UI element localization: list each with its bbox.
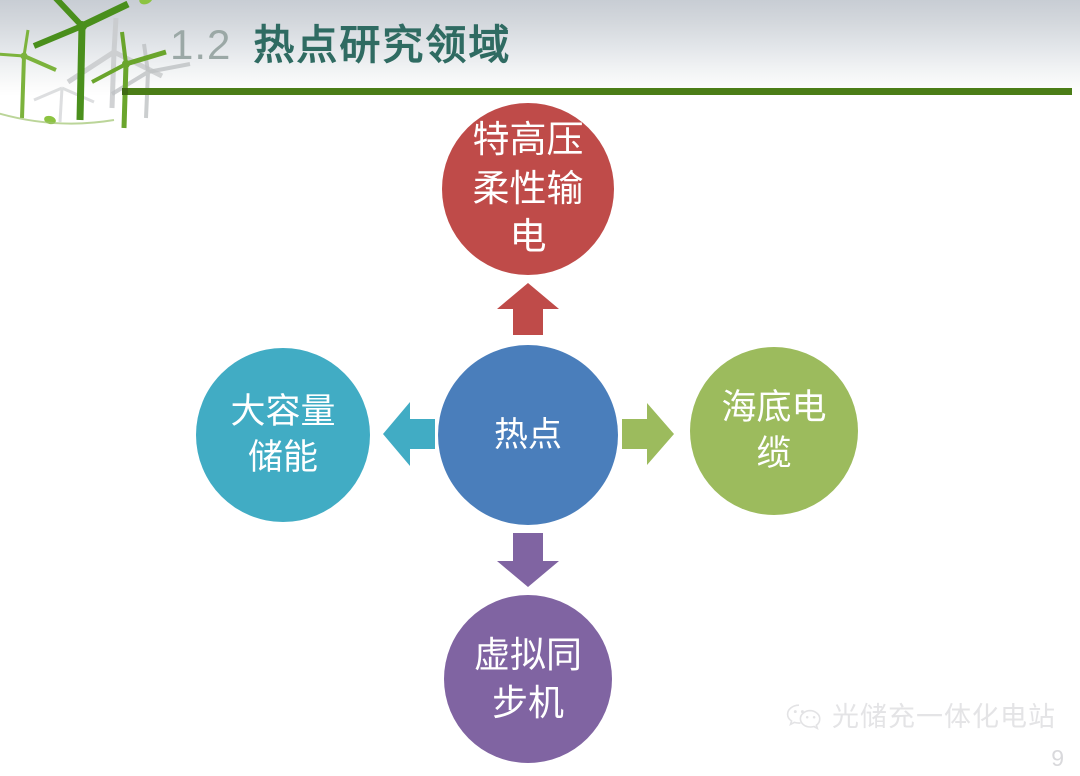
node-label: 虚拟同 步机 xyxy=(468,631,588,726)
slide-canvas: 1.2 热点研究领域 特高压 柔性输 电 大容量 储能 热点 海底电 缆 xyxy=(0,0,1080,776)
arrow-up-icon xyxy=(497,283,559,335)
arrow-down-icon xyxy=(497,533,559,587)
page-number: 9 xyxy=(1051,747,1064,770)
node-uhv-flexible-transmission[interactable]: 特高压 柔性输 电 xyxy=(442,103,614,275)
hotspot-diagram: 特高压 柔性输 电 大容量 储能 热点 海底电 缆 虚拟同 步机 xyxy=(0,96,1080,756)
watermark-text: 光储充一体化电站 xyxy=(832,704,1056,731)
node-label: 海底电 缆 xyxy=(715,385,832,477)
node-hotspot-center[interactable]: 热点 xyxy=(438,345,618,525)
header-divider-line xyxy=(122,88,1072,95)
node-label: 大容量 储能 xyxy=(224,389,341,481)
header-divider-cap xyxy=(122,88,128,95)
wechat-icon xyxy=(786,702,824,732)
node-virtual-synchronous-machine[interactable]: 虚拟同 步机 xyxy=(444,595,612,763)
section-title: 热点研究领域 xyxy=(253,25,511,66)
node-submarine-cable[interactable]: 海底电 缆 xyxy=(690,347,858,515)
page-title: 1.2 热点研究领域 xyxy=(170,14,511,76)
section-number: 1.2 xyxy=(170,24,231,66)
arrow-left-icon xyxy=(383,402,435,466)
node-label: 热点 xyxy=(488,413,568,458)
node-large-capacity-storage[interactable]: 大容量 储能 xyxy=(196,348,370,522)
node-label: 特高压 柔性输 电 xyxy=(467,116,590,262)
watermark: 光储充一体化电站 xyxy=(786,702,1056,732)
header-band xyxy=(0,0,1080,96)
arrow-right-icon xyxy=(622,403,674,465)
